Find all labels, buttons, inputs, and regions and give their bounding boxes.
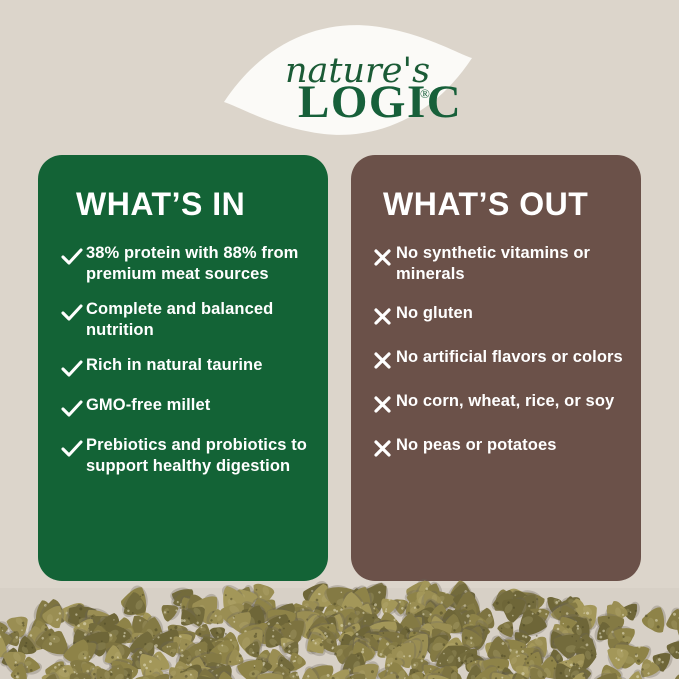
x-icon [368, 393, 396, 417]
whats-in-title: WHAT’S IN [76, 188, 245, 220]
list-item-label: No synthetic vitamins or minerals [396, 243, 624, 285]
list-item-label: Complete and balanced nutrition [86, 299, 308, 341]
check-icon [58, 437, 86, 461]
whats-out-list: No synthetic vitamins or minerals No glu… [368, 243, 640, 479]
list-item: Rich in natural taurine [58, 355, 326, 381]
list-item: No synthetic vitamins or minerals [368, 243, 640, 285]
check-icon [58, 301, 86, 325]
check-icon [58, 245, 86, 269]
list-item-label: Prebiotics and probiotics to support hea… [86, 435, 308, 477]
logo-word-text: LOGIC [298, 76, 462, 128]
list-item: Prebiotics and probiotics to support hea… [58, 435, 326, 477]
list-item-label: No artificial flavors or colors [396, 347, 623, 368]
x-icon [368, 349, 396, 373]
x-icon [368, 305, 396, 329]
check-icon [58, 397, 86, 421]
product-infographic: nature's LOGIC ® WHAT’S IN 38% protein w… [0, 0, 679, 679]
list-item: No peas or potatoes [368, 435, 640, 461]
list-item: No corn, wheat, rice, or soy [368, 391, 640, 417]
list-item-label: No corn, wheat, rice, or soy [396, 391, 614, 412]
brand-logo: nature's LOGIC ® [222, 16, 474, 144]
list-item: 38% protein with 88% from premium meat s… [58, 243, 326, 285]
whats-out-title: WHAT’S OUT [383, 188, 588, 220]
whats-in-list: 38% protein with 88% from premium meat s… [58, 243, 326, 491]
x-icon [368, 245, 396, 269]
whats-in-panel: WHAT’S IN 38% protein with 88% from prem… [38, 155, 328, 581]
list-item-label: No peas or potatoes [396, 435, 557, 456]
x-icon [368, 437, 396, 461]
list-item-label: Rich in natural taurine [86, 355, 263, 376]
check-icon [58, 357, 86, 381]
list-item: Complete and balanced nutrition [58, 299, 326, 341]
list-item-label: GMO-free millet [86, 395, 210, 416]
whats-out-panel: WHAT’S OUT No synthetic vitamins or mine… [351, 155, 641, 581]
list-item: GMO-free millet [58, 395, 326, 421]
registered-mark-icon: ® [420, 86, 430, 101]
list-item-label: 38% protein with 88% from premium meat s… [86, 243, 308, 285]
list-item: No gluten [368, 303, 640, 329]
list-item-label: No gluten [396, 303, 473, 324]
list-item: No artificial flavors or colors [368, 347, 640, 373]
